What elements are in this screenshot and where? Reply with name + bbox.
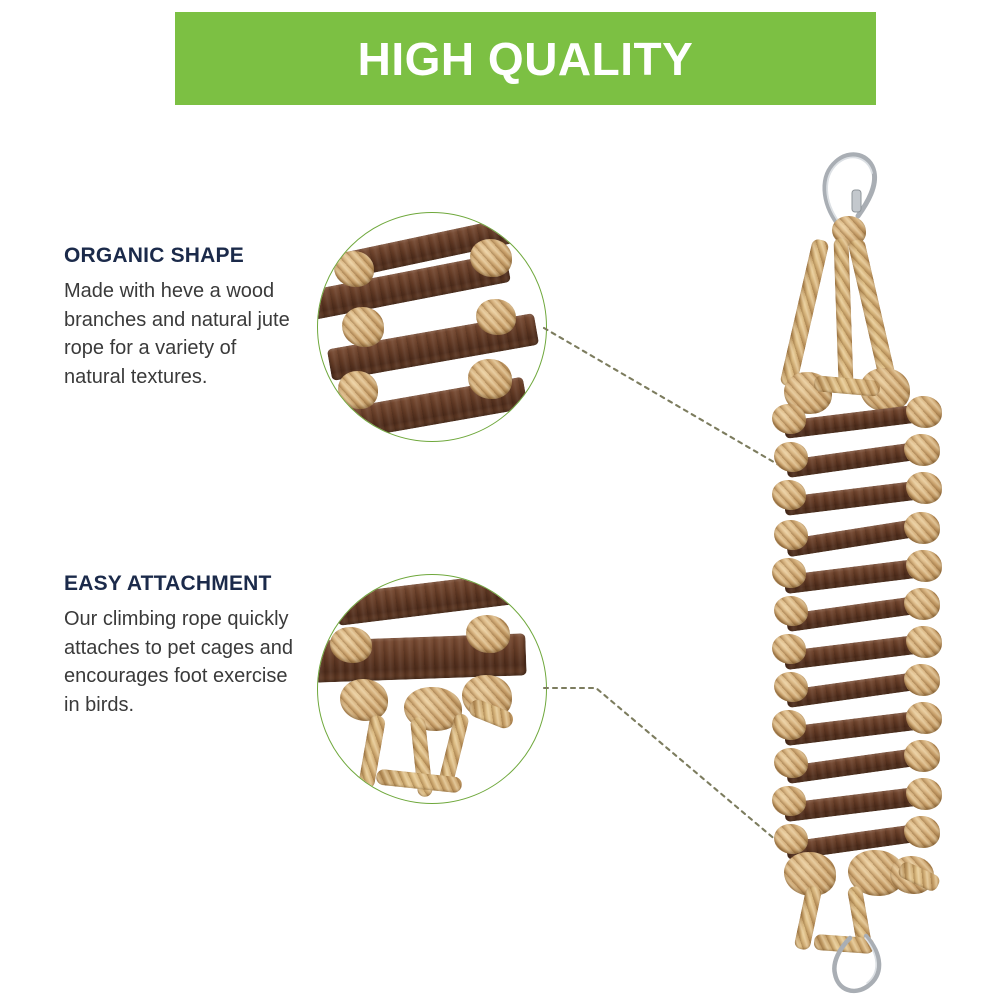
feature-heading: EASY ATTACHMENT xyxy=(64,572,299,596)
carabiner-clip-bottom-icon xyxy=(832,932,888,994)
feature-block-easy-attachment: EASY ATTACHMENT Our climbing rope quickl… xyxy=(64,572,299,719)
feature-body: Our climbing rope quickly attaches to pe… xyxy=(64,605,299,719)
page-title: HIGH QUALITY xyxy=(358,32,694,86)
feature-heading: ORGANIC SHAPE xyxy=(64,244,299,268)
callout-circle-easy-attachment xyxy=(317,574,547,804)
feature-body: Made with heve a wood branches and natur… xyxy=(64,277,299,391)
callout-circle-organic-shape xyxy=(317,212,547,442)
feature-block-organic-shape: ORGANIC SHAPE Made with heve a wood bran… xyxy=(64,244,299,391)
rope-knot-closeup-image xyxy=(318,575,546,803)
wood-rungs-closeup-image xyxy=(318,213,546,441)
product-image-rope-ladder xyxy=(740,150,970,990)
header-banner: HIGH QUALITY xyxy=(175,12,876,105)
